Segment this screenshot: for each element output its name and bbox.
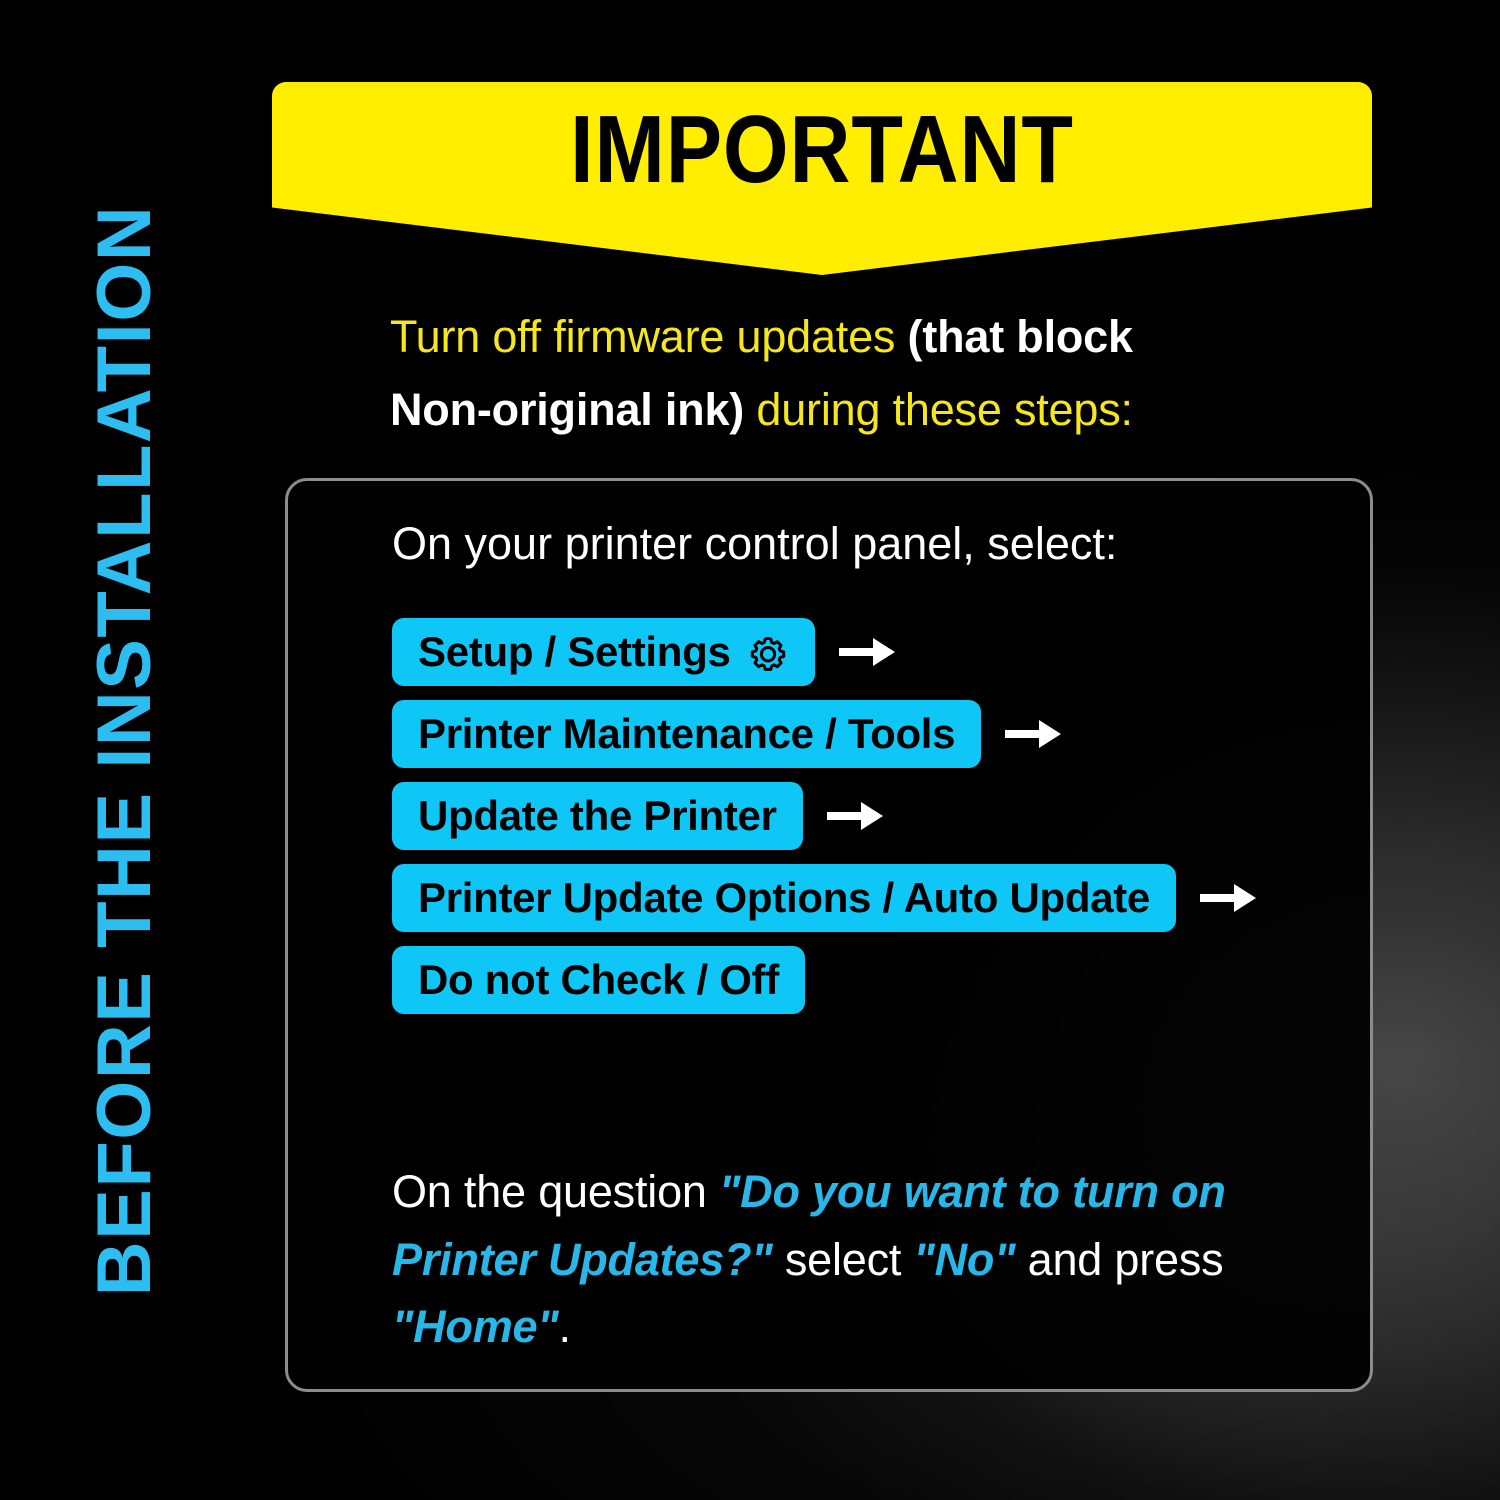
- closing-text-4: .: [559, 1301, 571, 1352]
- step-button-printer-maintenance-tools[interactable]: Printer Maintenance / Tools: [392, 700, 981, 768]
- step-label: Setup / Settings: [418, 631, 731, 673]
- poster-canvas: BEFORE THE INSTALLATION IMPORTANT Turn o…: [0, 0, 1500, 1500]
- lead-paragraph: Turn off firmware updates (that block No…: [390, 300, 1220, 447]
- arrow-right-icon: [1198, 878, 1258, 918]
- step-label: Printer Update Options / Auto Update: [418, 877, 1150, 919]
- lead-text-3: during these steps:: [744, 384, 1133, 435]
- step-label: Printer Maintenance / Tools: [418, 713, 955, 755]
- step-label: Do not Check / Off: [418, 959, 779, 1001]
- closing-text-2: select: [773, 1234, 914, 1285]
- step-row: Update the Printer: [392, 782, 1258, 850]
- step-button-setup-settings[interactable]: Setup / Settings: [392, 618, 815, 686]
- closing-text-3: and press: [1015, 1234, 1223, 1285]
- step-button-do-not-check-off[interactable]: Do not Check / Off: [392, 946, 805, 1014]
- gear-icon: [747, 631, 789, 673]
- step-button-printer-update-options-auto-update[interactable]: Printer Update Options / Auto Update: [392, 864, 1176, 932]
- step-row: Printer Update Options / Auto Update: [392, 864, 1258, 932]
- lead-text-1: Turn off firmware updates: [390, 311, 908, 362]
- step-button-update-the-printer[interactable]: Update the Printer: [392, 782, 803, 850]
- steps-list: Setup / Settings Printer Maintenance / T…: [392, 618, 1258, 1014]
- closing-quote-home: "Home": [392, 1301, 559, 1352]
- step-row: Setup / Settings: [392, 618, 1258, 686]
- arrow-right-icon: [1003, 714, 1063, 754]
- step-row: Printer Maintenance / Tools: [392, 700, 1258, 768]
- arrow-right-icon: [825, 796, 885, 836]
- arrow-right-icon: [837, 632, 897, 672]
- steps-intro-label: On your printer control panel, select:: [392, 518, 1117, 570]
- closing-paragraph: On the question "Do you want to turn on …: [392, 1158, 1272, 1361]
- banner-title: IMPORTANT: [338, 100, 1306, 201]
- closing-text-1: On the question: [392, 1166, 719, 1217]
- step-row: Do not Check / Off: [392, 946, 1258, 1014]
- step-label: Update the Printer: [418, 795, 777, 837]
- important-banner: IMPORTANT: [272, 82, 1372, 275]
- side-title-container: BEFORE THE INSTALLATION: [0, 0, 250, 1500]
- closing-quote-no: "No": [913, 1234, 1015, 1285]
- side-title: BEFORE THE INSTALLATION: [82, 204, 169, 1295]
